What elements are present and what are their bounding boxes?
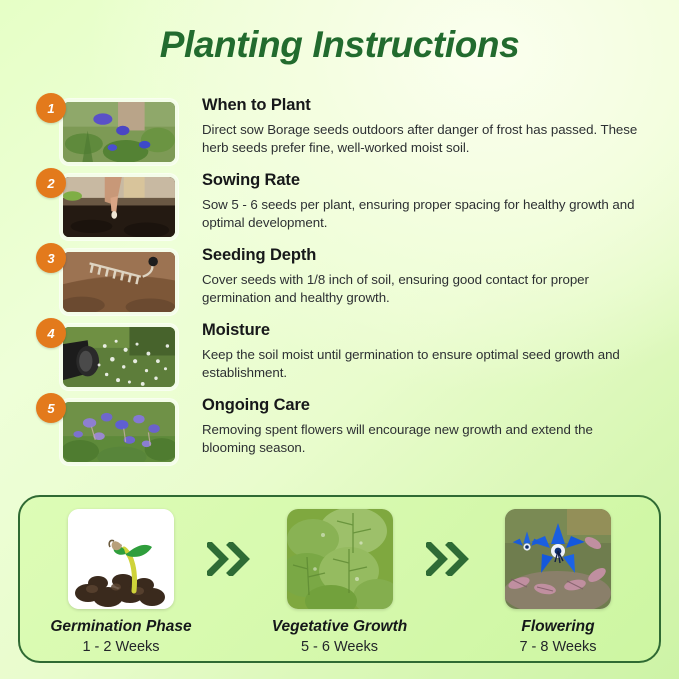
step-item: 1 When to Plant Direct sow Borage seeds … [0, 96, 679, 171]
step-description: Keep the soil moist until germination to… [202, 346, 645, 382]
chevron-art [207, 542, 253, 576]
photo-art [68, 509, 174, 609]
photo-art [63, 402, 175, 465]
phase-duration: 7 - 8 Weeks [519, 639, 596, 655]
chevron-art [426, 542, 472, 576]
borage-flowers-photo [60, 399, 178, 465]
borage-plants-photo [60, 99, 178, 165]
steps-list: 1 When to Plant Direct sow Borage seeds … [0, 96, 679, 471]
phase-list: Germination Phase 1 - 2 Weeks [20, 497, 659, 661]
phase-name: Flowering [521, 618, 594, 636]
step-number-badge: 1 [36, 93, 66, 123]
phase-duration: 5 - 6 Weeks [301, 639, 378, 655]
step-thumbnail-wrap: 2 [60, 174, 178, 240]
rake-in-soil-photo [60, 249, 178, 315]
step-body: Seeding Depth Cover seeds with 1/8 inch … [202, 246, 645, 307]
step-number-badge: 5 [36, 393, 66, 423]
step-item: 4 Moisture Keep the soil moist until ger… [0, 321, 679, 396]
step-number-badge: 2 [36, 168, 66, 198]
photo-art [63, 252, 175, 315]
blue-borage-flower-photo [505, 509, 611, 609]
photo-art [63, 177, 175, 240]
infographic-page: Planting Instructions [0, 0, 679, 679]
watering-spray-photo [60, 324, 178, 390]
step-item: 2 Sowing Rate Sow 5 - 6 seeds per plant,… [0, 171, 679, 246]
green-leaves-photo [287, 509, 393, 609]
step-description: Cover seeds with 1/8 inch of soil, ensur… [202, 271, 645, 307]
growth-timeline-panel: Germination Phase 1 - 2 Weeks [18, 495, 661, 663]
step-description: Sow 5 - 6 seeds per plant, ensuring prop… [202, 196, 645, 232]
hand-sowing-seed-photo [60, 174, 178, 240]
step-description: Removing spent flowers will encourage ne… [202, 421, 645, 457]
photo-art [63, 102, 175, 165]
step-number-badge: 3 [36, 243, 66, 273]
step-item: 3 Seeding Depth Cover seeds with 1/8 inc… [0, 246, 679, 321]
step-body: Ongoing Care Removing spent flowers will… [202, 396, 645, 457]
phase-name: Vegetative Growth [272, 618, 408, 636]
step-body: Moisture Keep the soil moist until germi… [202, 321, 645, 382]
step-title: Sowing Rate [202, 171, 645, 190]
step-item: 5 Ongoing Care Removing spent flowers wi… [0, 396, 679, 471]
step-title: Moisture [202, 321, 645, 340]
double-chevron-right-icon [425, 509, 474, 609]
phase-item-germination: Germination Phase 1 - 2 Weeks [36, 509, 206, 655]
step-title: When to Plant [202, 96, 645, 115]
step-thumbnail-wrap: 1 [60, 99, 178, 165]
step-body: When to Plant Direct sow Borage seeds ou… [202, 96, 645, 157]
photo-art [287, 509, 393, 609]
step-description: Direct sow Borage seeds outdoors after d… [202, 121, 645, 157]
phase-item-flowering: Flowering 7 - 8 Weeks [473, 509, 643, 655]
step-thumbnail-wrap: 3 [60, 249, 178, 315]
step-number-badge: 4 [36, 318, 66, 348]
sprouting-seedling-photo [68, 509, 174, 609]
phase-duration: 1 - 2 Weeks [82, 639, 159, 655]
step-title: Seeding Depth [202, 246, 645, 265]
photo-art [63, 327, 175, 390]
step-title: Ongoing Care [202, 396, 645, 415]
step-thumbnail-wrap: 4 [60, 324, 178, 390]
phase-name: Germination Phase [50, 618, 191, 636]
phase-item-vegetative: Vegetative Growth 5 - 6 Weeks [255, 509, 425, 655]
step-thumbnail-wrap: 5 [60, 399, 178, 465]
step-body: Sowing Rate Sow 5 - 6 seeds per plant, e… [202, 171, 645, 232]
double-chevron-right-icon [206, 509, 255, 609]
page-title: Planting Instructions [0, 24, 679, 66]
photo-art [505, 509, 611, 609]
